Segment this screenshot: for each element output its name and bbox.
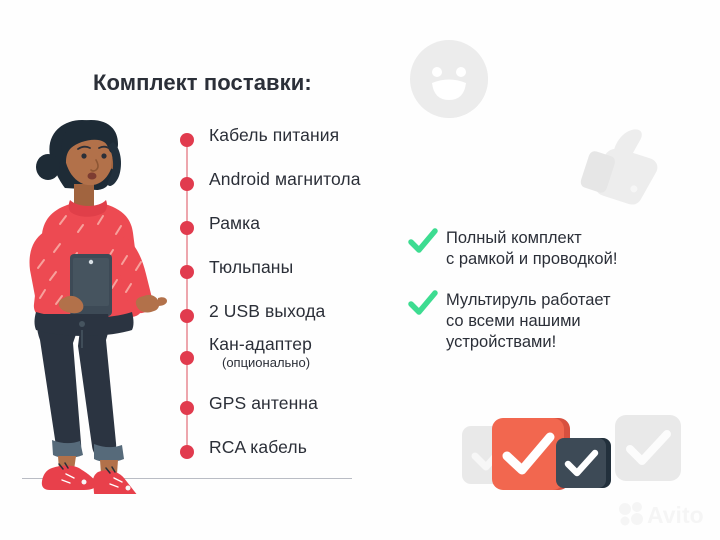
checkbox-tile-red [492, 418, 564, 490]
checkbox-tiles-group [462, 414, 677, 490]
svg-text:Avito: Avito [647, 502, 704, 528]
check-icon [408, 228, 438, 256]
checkbox-tile-dark [556, 438, 606, 488]
highlight-text: Полный комплект с рамкой и проводкой! [446, 229, 617, 268]
list-item-label: Кан-адаптер [209, 334, 312, 355]
list-item-label: RCA кабель [209, 437, 307, 458]
checkbox-tile-gray-right [615, 415, 681, 481]
smiley-face-icon [408, 38, 490, 120]
thumbs-up-icon [578, 118, 666, 210]
page-title: Комплект поставки: [93, 70, 312, 96]
list-item-label: Кабель питания [209, 125, 339, 146]
highlight-item: Полный комплект с рамкой и проводкой! [408, 228, 698, 270]
list-item-sublabel: (опционально) [222, 355, 310, 370]
highlight-list: Полный комплект с рамкой и проводкой! Му… [408, 228, 698, 367]
check-icon [408, 290, 438, 318]
highlight-item: Мультируль работает со всеми нашими устр… [408, 290, 698, 353]
list-item-label: Рамка [209, 213, 260, 234]
avito-watermark: Avito [618, 500, 714, 528]
list-item-label: GPS антенна [209, 393, 318, 414]
poster-canvas: Комплект поставки: Кабель питания Androi… [0, 0, 720, 540]
highlight-text: Мультируль работает со всеми нашими устр… [446, 291, 611, 351]
list-item-label: Тюльпаны [209, 257, 293, 278]
list-item-label: Android магнитола [209, 169, 361, 190]
package-contents-list: Кабель питания Android магнитола Рамка Т… [177, 128, 407, 458]
list-item-label: 2 USB выхода [209, 301, 325, 322]
woman-with-tablet-illustration [12, 112, 184, 494]
